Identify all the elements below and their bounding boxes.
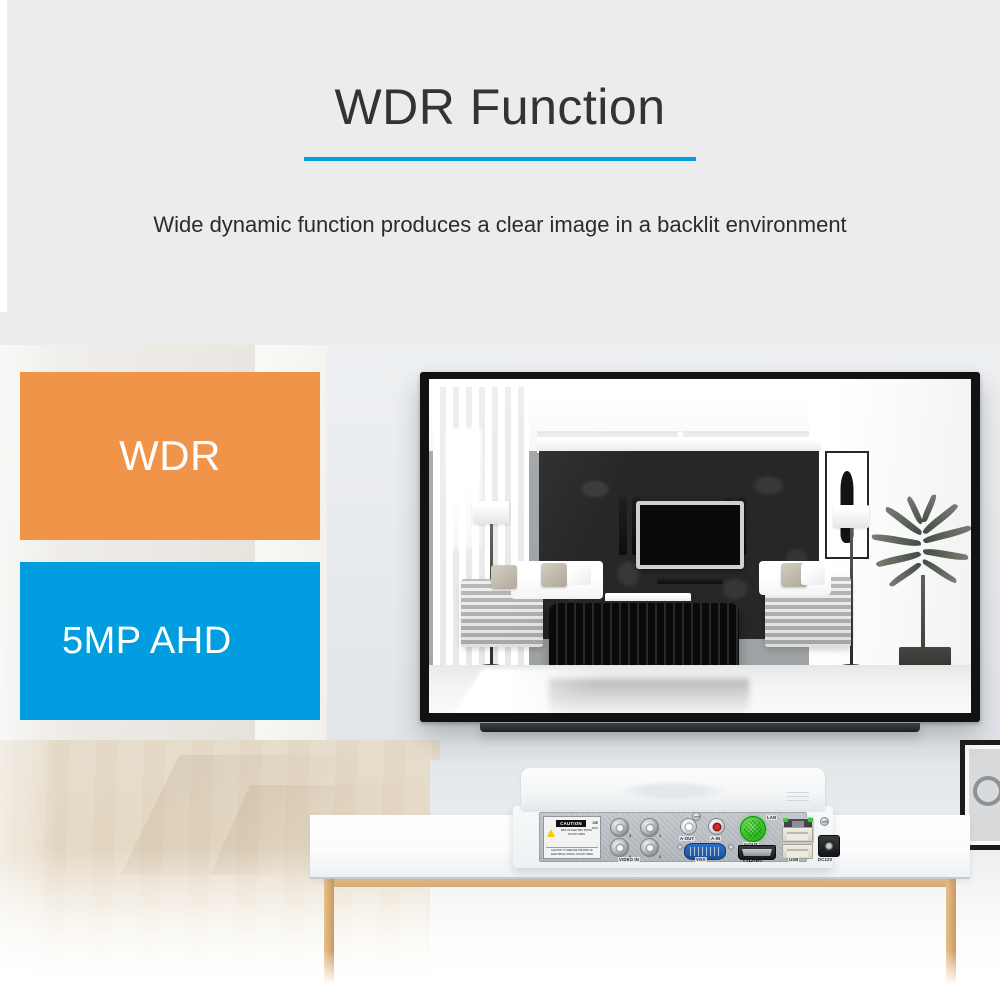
vga-screw-left — [677, 844, 683, 850]
downlight — [779, 411, 786, 418]
rca-ring — [684, 822, 693, 831]
plant-stem — [921, 575, 925, 651]
page-title: WDR Function — [0, 78, 1000, 136]
white-pillow — [567, 563, 591, 585]
product-banner: CAUTION RISK OF ELECTRIC SHOCK DO NOT OP… — [0, 0, 1000, 1000]
bnc-channel-2: 2 — [659, 854, 661, 859]
wall-speaker-left — [619, 497, 627, 555]
bnc-video-in-2[interactable] — [640, 838, 659, 857]
lan-led-left — [783, 818, 788, 822]
bnc-channel-1: 1 — [659, 833, 661, 838]
white-pillow — [801, 563, 825, 585]
usb-label: USB — [788, 857, 799, 862]
buzzer-grille — [740, 816, 766, 842]
header-panel: WDR Function Wide dynamic function produ… — [0, 0, 1000, 345]
rca-ring — [712, 822, 721, 831]
bnc-video-in-1[interactable] — [640, 818, 659, 837]
badge-wdr: WDR — [20, 372, 320, 540]
fcc-mark: FCC — [592, 826, 598, 830]
dvr-top-cover — [521, 768, 825, 810]
audio-out-label: A-OUT — [679, 836, 695, 841]
usb-port-upper[interactable] — [782, 827, 813, 842]
dc-power-jack[interactable] — [818, 835, 840, 857]
audio-in-rca[interactable] — [708, 818, 725, 835]
hdmi-label: HDMI — [743, 857, 763, 864]
caution-line-2: DO NOT OPEN — [555, 833, 598, 836]
interior-living-room-scene — [429, 379, 971, 713]
picture-art — [973, 776, 1000, 806]
downlight — [597, 421, 604, 428]
caution-footer: CAUTION: TO REDUCE THE RISK OF ELECTRICA… — [546, 847, 598, 856]
panel-screw — [692, 812, 701, 821]
gold-pillow — [491, 565, 517, 589]
window-light — [447, 429, 481, 549]
hazard-triangle-icon — [547, 829, 555, 837]
dvr-rear-panel: CAUTION RISK OF ELECTRIC SHOCK DO NOT OP… — [539, 812, 807, 862]
panel-screw — [820, 817, 829, 826]
dc-label: DC12V — [817, 857, 834, 862]
bottom-fade — [0, 950, 1000, 1000]
header-left-strip — [0, 0, 7, 312]
floor-lamp-shade-right — [833, 505, 869, 528]
page-subtitle: Wide dynamic function produces a clear i… — [0, 212, 1000, 238]
ce-mark: CE — [592, 820, 598, 825]
caution-label: CAUTION RISK OF ELECTRIC SHOCK DO NOT OP… — [543, 816, 601, 859]
bnc-channel-3: 3 — [629, 833, 631, 838]
dvr-vents — [787, 792, 809, 804]
bnc-video-in-3[interactable] — [610, 818, 629, 837]
gold-pillow — [541, 563, 567, 587]
audio-in-label: A-IN — [710, 836, 721, 841]
floor-lamp-shade-left — [473, 501, 509, 524]
wall-mounted-television — [420, 372, 980, 722]
title-underline — [304, 157, 696, 161]
caution-footer-2: ELECTRICAL SHOCK, DO NOT OPEN — [546, 853, 598, 856]
sunlight-patch — [451, 669, 633, 713]
badge-wdr-label: WDR — [119, 432, 221, 480]
tv-screen — [429, 379, 971, 713]
vga-label: VGA — [695, 857, 707, 862]
badge-5mp-ahd-label: 5MP AHD — [62, 620, 232, 663]
video-in-label: VIDEO IN — [618, 857, 640, 862]
vga-screw-right — [728, 844, 734, 850]
lan-top-label: LAN — [766, 815, 777, 820]
media-shelf — [657, 577, 723, 584]
caution-heading: CAUTION — [556, 820, 586, 827]
tv-soundbar — [480, 723, 920, 732]
dvr-emboss — [618, 781, 728, 801]
badge-5mp-ahd: 5MP AHD — [20, 562, 320, 720]
bnc-video-in-4[interactable] — [610, 838, 629, 857]
lan-led-right — [808, 818, 813, 822]
wall-flat-tv — [636, 501, 744, 569]
dvr-recorder: CAUTION RISK OF ELECTRIC SHOCK DO NOT OP… — [513, 768, 833, 876]
wall-soffit — [537, 437, 821, 451]
